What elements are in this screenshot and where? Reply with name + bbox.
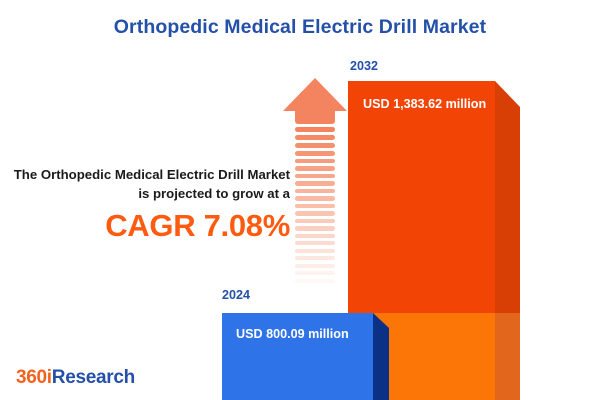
arrow-shaft-stripe <box>295 226 335 230</box>
arrow-shaft-stripes <box>295 127 335 293</box>
bar-2024-value-label: USD 800.09 million <box>236 327 349 341</box>
cagr-value: CAGR 7.08% <box>8 209 290 243</box>
brand-logo: 360iResearch <box>16 367 135 389</box>
brand-logo-part-b: Research <box>52 367 135 388</box>
arrow-shaft-stripe <box>295 286 335 290</box>
arrow-shaft-stripe <box>295 204 335 208</box>
bar-2024-year-label: 2024 <box>222 288 250 302</box>
arrow-shaft-stripe <box>295 219 335 223</box>
bar-2032-value-label: USD 1,383.62 million <box>363 97 486 111</box>
arrow-shaft-stripe <box>295 256 335 260</box>
arrow-shaft-stripe <box>295 159 335 163</box>
arrow-shaft-stripe <box>295 143 335 148</box>
arrow-shaft-stripe <box>295 279 335 283</box>
arrow-head-icon <box>283 78 347 124</box>
arrow-shaft-stripe <box>295 249 335 253</box>
arrow-shaft-stripe <box>295 189 335 193</box>
cagr-statement: The Orthopedic Medical Electric Drill Ma… <box>8 165 290 243</box>
market-size-infographic: Orthopedic Medical Electric Drill Market… <box>0 0 600 400</box>
arrow-head-triangle <box>283 78 347 111</box>
arrow-shaft-stripe <box>295 135 335 140</box>
arrow-shaft-stripe <box>295 211 335 215</box>
bar-2032-side-face-lower <box>495 313 520 400</box>
arrow-shaft-stripe <box>295 196 335 200</box>
arrow-shaft-stripe <box>295 271 335 275</box>
arrow-head-neck <box>295 110 335 124</box>
arrow-shaft-stripe <box>295 234 335 238</box>
arrow-shaft-stripe <box>295 241 335 245</box>
bar-2024-side-face <box>373 313 389 400</box>
growth-arrow-icon <box>283 78 347 293</box>
arrow-shaft-stripe <box>295 166 335 170</box>
bar-2032-year-label: 2032 <box>350 59 378 73</box>
arrow-shaft-stripe <box>295 174 335 178</box>
arrow-shaft-stripe <box>295 151 335 155</box>
arrow-shaft-stripe <box>295 181 335 185</box>
bar-2032-front-face-upper <box>348 81 495 313</box>
page-title: Orthopedic Medical Electric Drill Market <box>0 16 600 39</box>
brand-logo-part-a: 360i <box>16 367 52 388</box>
arrow-shaft-stripe <box>295 264 335 268</box>
arrow-shaft-stripe <box>295 127 335 132</box>
cagr-statement-text: The Orthopedic Medical Electric Drill Ma… <box>8 165 290 203</box>
